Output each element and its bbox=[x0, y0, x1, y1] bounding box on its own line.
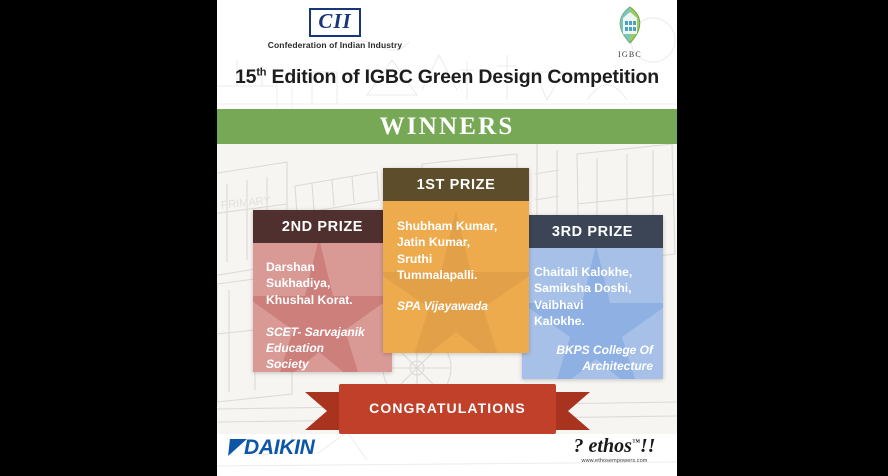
prize-card-3rd: 3RD PRIZE Chaitali Kalokhe,Samiksha Dosh… bbox=[522, 215, 663, 379]
igbc-name: IGBC bbox=[601, 50, 659, 59]
ethos-prefix: ? bbox=[574, 435, 584, 457]
prize-card-3rd-header: 3RD PRIZE bbox=[522, 215, 663, 248]
ethos-suffix: !! bbox=[640, 435, 656, 457]
page-title-number: 15 bbox=[235, 66, 256, 88]
poster-header: CII Confederation of Indian Industry bbox=[217, 0, 677, 109]
igbc-logo: IGBC bbox=[601, 5, 659, 59]
igbc-leaf-building-icon bbox=[607, 5, 653, 45]
prize-card-2nd-body: DarshanSukhadiya,Khushal Korat. SCET- Sa… bbox=[253, 243, 392, 372]
prize-card-2nd-rank: 2ND PRIZE bbox=[282, 219, 363, 235]
page-title-rest: Edition of IGBC Green Design Competition bbox=[266, 66, 659, 88]
page-title: 15th Edition of IGBC Green Design Compet… bbox=[217, 66, 677, 89]
prize-card-1st-names: Shubham Kumar,Jatin Kumar,SruthiTummalap… bbox=[397, 218, 515, 283]
prize-card-3rd-rank: 3RD PRIZE bbox=[552, 224, 633, 240]
prize-card-1st-rank: 1ST PRIZE bbox=[417, 177, 496, 193]
cii-logo-icon: CII bbox=[309, 8, 360, 37]
ethos-trademark: ™ bbox=[632, 437, 640, 446]
cii-logo: CII Confederation of Indian Industry bbox=[255, 8, 415, 50]
page-title-ordinal: th bbox=[256, 67, 266, 79]
prize-card-1st: 1ST PRIZE Shubham Kumar,Jatin Kumar,Srut… bbox=[383, 168, 529, 353]
cii-mark: CII bbox=[318, 9, 351, 33]
congratulations-label: CONGRATULATIONS bbox=[369, 400, 526, 416]
prize-card-2nd-header: 2ND PRIZE bbox=[253, 210, 392, 243]
prize-card-3rd-body: Chaitali Kalokhe,Samiksha Doshi,Vaibhavi… bbox=[522, 248, 663, 379]
prize-card-3rd-organisation: BKPS College OfArchitecture bbox=[534, 343, 653, 375]
congratulations-ribbon: CONGRATULATIONS bbox=[305, 384, 590, 434]
daikin-logo-icon bbox=[228, 439, 247, 456]
daikin-label: DAIKIN bbox=[244, 437, 315, 458]
sponsor-ethos: ? ethos™!! www.ethosempowers.com bbox=[562, 436, 667, 464]
poster-body: PRIMARY 2ND PRIZE DarshanSukhadiya,Khush… bbox=[217, 144, 677, 434]
ethos-logo-icon: ? ethos™!! bbox=[562, 436, 667, 456]
poster-footer: DAIKIN ? ethos™!! www.ethosempowers.com bbox=[217, 434, 677, 476]
screenshot-canvas: CII Confederation of Indian Industry bbox=[0, 0, 888, 476]
winners-banner-label: WINNERS bbox=[380, 113, 515, 141]
poster: CII Confederation of Indian Industry bbox=[217, 0, 677, 476]
prize-card-2nd-names: DarshanSukhadiya,Khushal Korat. bbox=[266, 259, 379, 308]
winners-banner: WINNERS bbox=[217, 109, 677, 144]
ethos-url: www.ethosempowers.com bbox=[562, 458, 667, 464]
prize-card-1st-body: Shubham Kumar,Jatin Kumar,SruthiTummalap… bbox=[383, 201, 529, 325]
cii-name: Confederation of Indian Industry bbox=[255, 40, 415, 50]
ethos-name: ethos bbox=[589, 435, 632, 457]
prize-card-2nd: 2ND PRIZE DarshanSukhadiya,Khushal Korat… bbox=[253, 210, 392, 372]
sponsor-daikin: DAIKIN bbox=[229, 437, 315, 458]
prize-card-2nd-organisation: SCET- SarvajanikEducationSociety bbox=[266, 325, 379, 372]
prize-card-1st-header: 1ST PRIZE bbox=[383, 168, 529, 201]
prize-card-3rd-names: Chaitali Kalokhe,Samiksha Doshi,Vaibhavi… bbox=[534, 264, 653, 329]
prize-card-1st-organisation: SPA Vijayawada bbox=[397, 299, 515, 315]
